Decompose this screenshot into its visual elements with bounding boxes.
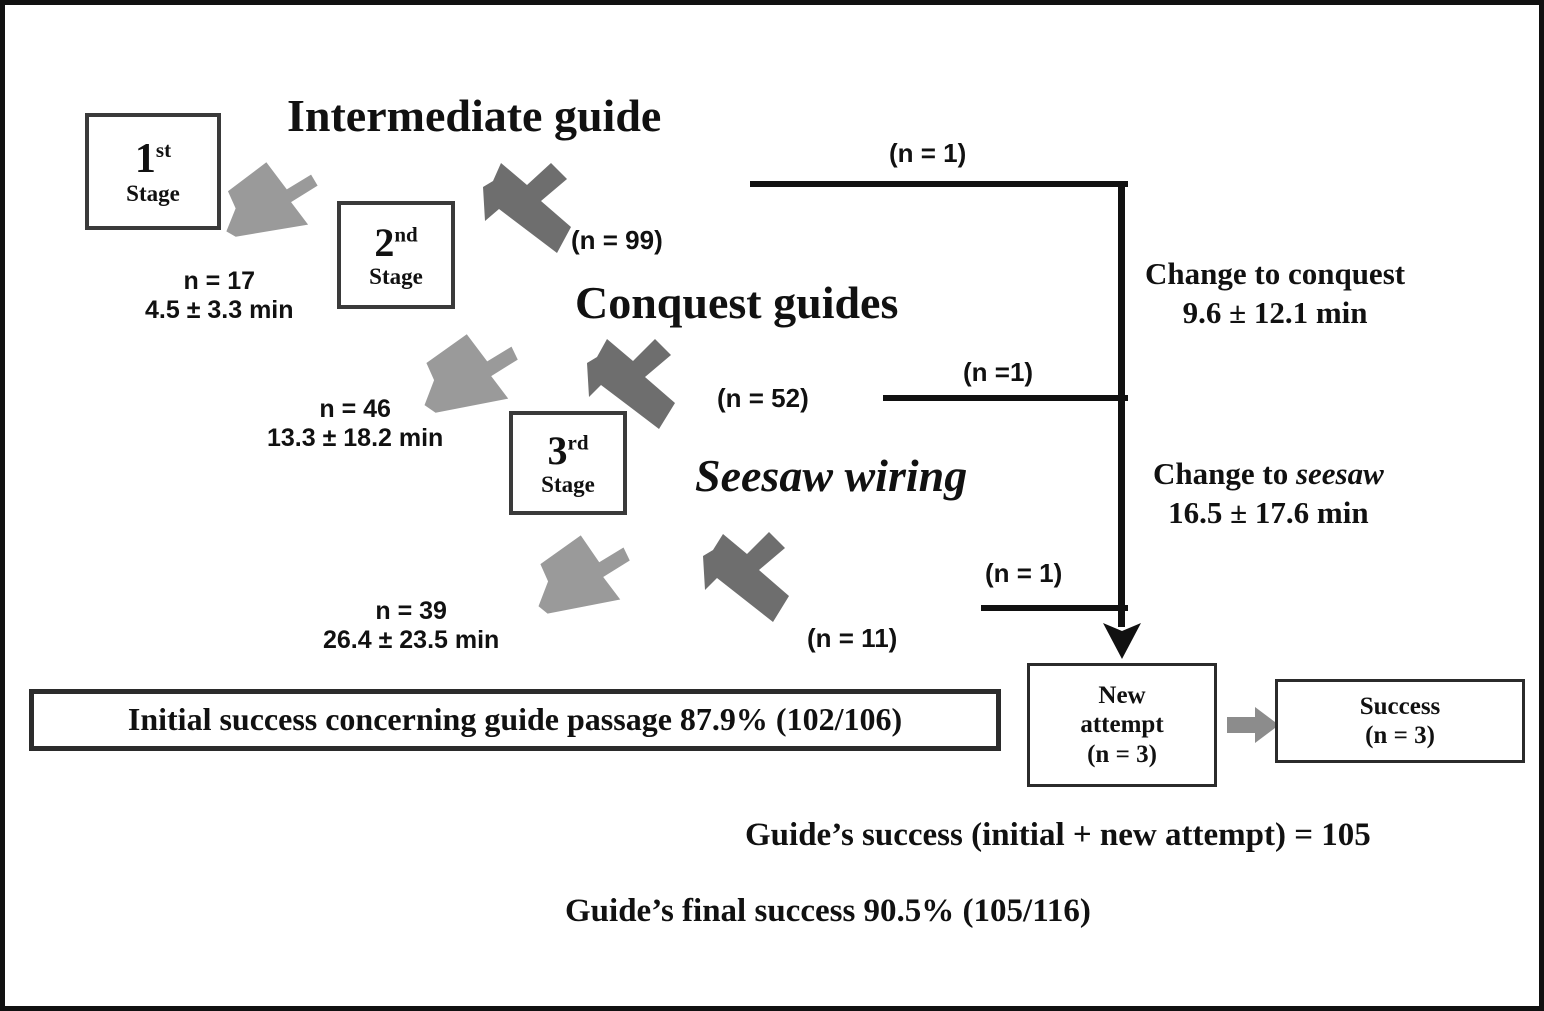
stage-1-n: n = 17	[145, 267, 294, 296]
success-box: Success (n = 3)	[1275, 679, 1525, 763]
stage-1-word: Stage	[126, 182, 180, 205]
failure-branch-line-2	[883, 395, 1128, 401]
change-note-seesaw-line2: 16.5 ± 17.6 min	[1153, 494, 1384, 533]
stage-1-stats: n = 17 4.5 ± 3.3 min	[145, 267, 294, 325]
heading-seesaw-wiring: Seesaw wiring	[695, 453, 967, 499]
stage-2-ordinal: 2nd	[374, 223, 417, 263]
arrowhead-down-to-new-attempt-icon	[1101, 617, 1143, 661]
branch-count-n99: (n = 99)	[571, 225, 663, 256]
heading-intermediate-guide: Intermediate guide	[287, 93, 661, 139]
failure-branch-vertical-stem	[1118, 181, 1125, 627]
failure-branch-label-2: (n =1)	[963, 357, 1033, 388]
arrow-conquest-down-right-icon	[583, 335, 679, 431]
stage-3-time: 26.4 ± 23.5 min	[323, 626, 499, 655]
initial-success-box: Initial success concerning guide passage…	[29, 689, 1001, 751]
failure-branch-label-1: (n = 1)	[889, 138, 966, 169]
stage-2-word: Stage	[369, 265, 423, 288]
change-note-seesaw-line1: Change to seesaw	[1153, 455, 1384, 494]
stage-2-time: 13.3 ± 18.2 min	[267, 424, 443, 453]
arrow-stage3-down-left-icon	[535, 530, 629, 624]
failure-branch-line-3	[981, 605, 1128, 611]
diagram-canvas: 1st Stage 2nd Stage 3rd Stage Intermedia…	[0, 0, 1544, 1011]
summary-guide-final-success: Guide’s final success 90.5% (105/116)	[565, 893, 1091, 930]
summary-guide-success: Guide’s success (initial + new attempt) …	[745, 817, 1371, 854]
stage-3-stats: n = 39 26.4 ± 23.5 min	[323, 597, 499, 655]
change-note-seesaw-prefix: Change to	[1153, 456, 1296, 491]
stage-3-n: n = 39	[323, 597, 499, 626]
new-attempt-line-1: New	[1098, 681, 1145, 711]
change-note-conquest-line2: 9.6 ± 12.1 min	[1145, 294, 1405, 333]
change-note-seesaw: Change to seesaw 16.5 ± 17.6 min	[1153, 455, 1384, 533]
success-line-2: (n = 3)	[1365, 721, 1435, 751]
new-attempt-box: New attempt (n = 3)	[1027, 663, 1217, 787]
stage-1-time: 4.5 ± 3.3 min	[145, 296, 294, 325]
arrow-intermediate-down-right-icon	[479, 157, 577, 257]
stage-box-2: 2nd Stage	[337, 201, 455, 309]
change-note-conquest: Change to conquest 9.6 ± 12.1 min	[1145, 255, 1405, 333]
branch-count-n52: (n = 52)	[717, 383, 809, 414]
failure-branch-label-3: (n = 1)	[985, 558, 1062, 589]
stage-3-ordinal: 3rd	[548, 431, 589, 471]
stage-2-stats: n = 46 13.3 ± 18.2 min	[267, 395, 443, 453]
heading-conquest-guides: Conquest guides	[575, 280, 898, 326]
new-attempt-line-3: (n = 3)	[1087, 740, 1157, 770]
branch-count-n11: (n = 11)	[807, 623, 897, 654]
stage-3-word: Stage	[541, 473, 595, 496]
change-note-seesaw-emphasis: seesaw	[1296, 456, 1384, 491]
arrow-new-attempt-to-success-icon	[1227, 705, 1279, 745]
stage-1-ordinal: 1st	[135, 138, 171, 180]
failure-branch-line-1	[750, 181, 1128, 187]
success-line-1: Success	[1360, 692, 1441, 722]
stage-box-1: 1st Stage	[85, 113, 221, 230]
arrow-stage1-down-left-icon	[223, 153, 315, 249]
stage-2-n: n = 46	[267, 395, 443, 424]
arrow-seesaw-down-right-icon	[699, 530, 793, 624]
change-note-conquest-line1: Change to conquest	[1145, 255, 1405, 294]
new-attempt-line-2: attempt	[1080, 710, 1163, 740]
